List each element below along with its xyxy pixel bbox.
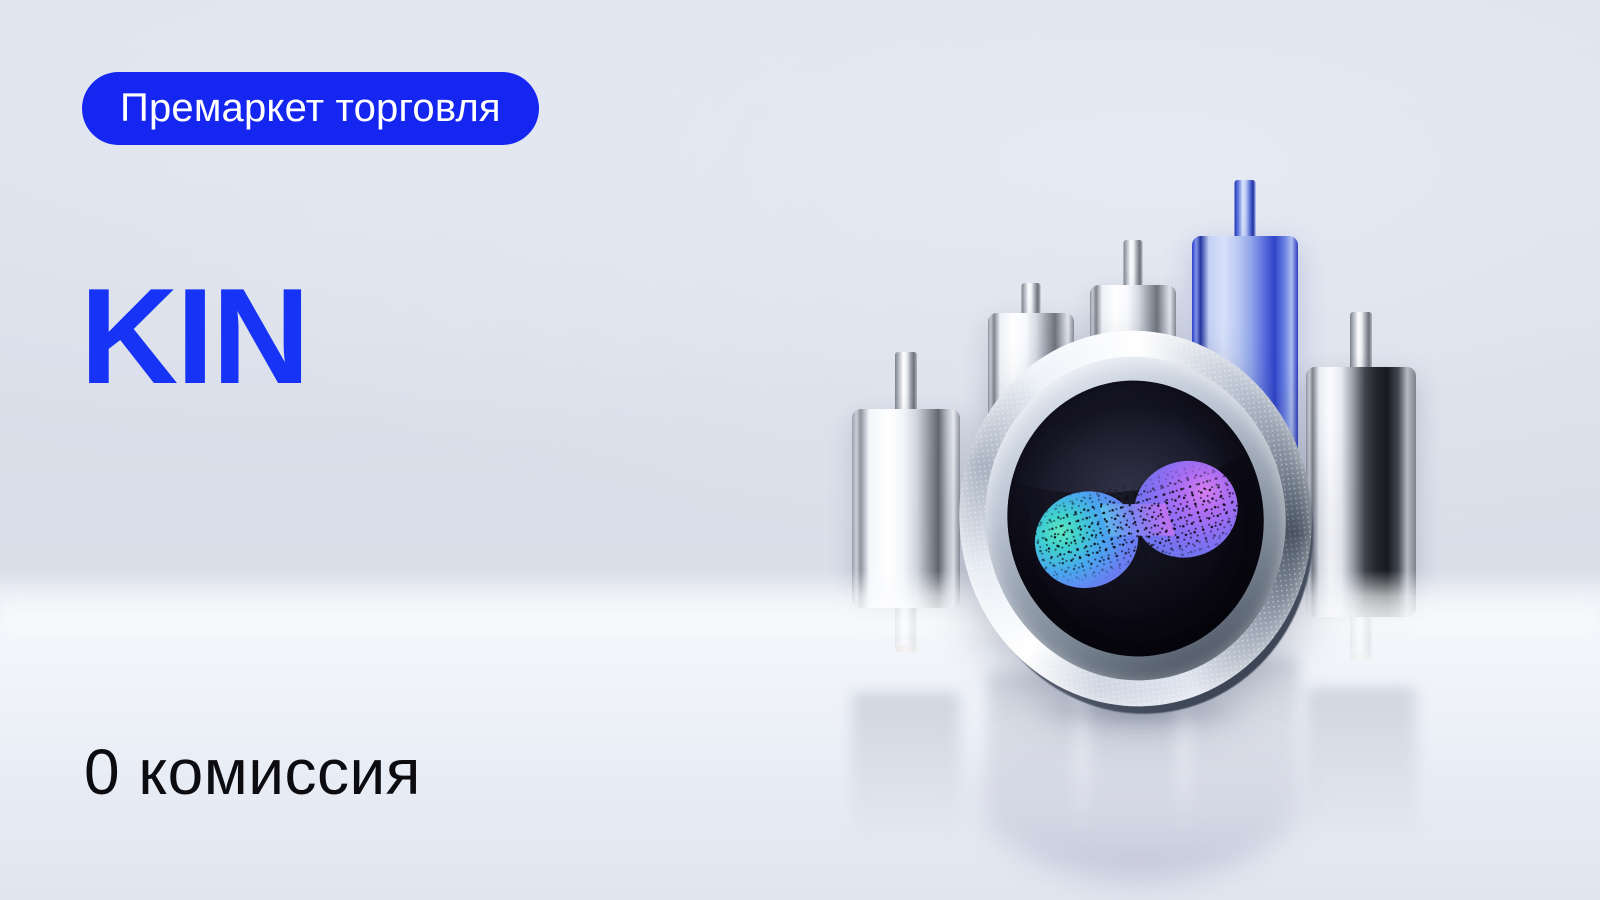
candlestick-4-reflection (1192, 657, 1298, 842)
candlestick-2 (988, 283, 1074, 600)
candlestick-5-wick (1350, 312, 1372, 660)
coin-contact-shadow (990, 688, 1290, 734)
candlestick-1-foot (896, 646, 916, 652)
kin-token-coin (938, 309, 1342, 734)
coin-face (992, 366, 1280, 671)
candlestick-1-wick (895, 352, 917, 652)
candlestick-1-body (852, 409, 960, 608)
zero-commission-tagline: 0 комиссия (84, 740, 421, 804)
candlestick-3-wick (1124, 240, 1143, 575)
premarket-badge[interactable]: Премаркет торговля (82, 72, 539, 145)
token-ticker: KIN (80, 268, 308, 404)
logo-bridge-upper (1099, 486, 1173, 547)
logo-bridge-lower (1101, 493, 1175, 554)
candlestick-3 (1090, 240, 1176, 575)
candlestick-3-reflection (1090, 667, 1176, 842)
candlestick-5 (1306, 312, 1416, 660)
candlestick-4-body (1192, 236, 1298, 526)
coin-inner-bevel (967, 339, 1304, 697)
reflective-floor (0, 570, 1600, 900)
infinity-particle-logo-icon (1022, 444, 1251, 604)
candlestick-5-reflection (1306, 687, 1416, 842)
candlestick-1 (852, 352, 960, 652)
candlestick-1-reflection (852, 692, 960, 842)
coin-halo-glow (976, 348, 1295, 688)
coin-edge-thickness (948, 326, 1334, 733)
candlestick-2-wick (1022, 283, 1041, 600)
coin-face-sheen (992, 366, 1280, 509)
candlestick-2-reflection (988, 672, 1074, 842)
candlestick-4-wick (1235, 180, 1256, 600)
candlestick-5-body (1306, 367, 1416, 617)
candlestick-4 (1192, 180, 1298, 600)
coin-outer-rim (938, 310, 1333, 726)
candlestick-3-body (1090, 285, 1176, 535)
logo-left-lobe (1023, 479, 1151, 601)
coin-reflection (975, 700, 1305, 880)
candlestick-2-body (988, 313, 1074, 563)
floor-horizon-glow (0, 584, 1600, 642)
logo-right-lobe (1122, 448, 1250, 570)
candlestick-5-foot (1351, 654, 1371, 660)
premarket-banner: Премаркет торговля KIN 0 комиссия (0, 0, 1600, 900)
logo-particle-speckle (1022, 444, 1251, 604)
